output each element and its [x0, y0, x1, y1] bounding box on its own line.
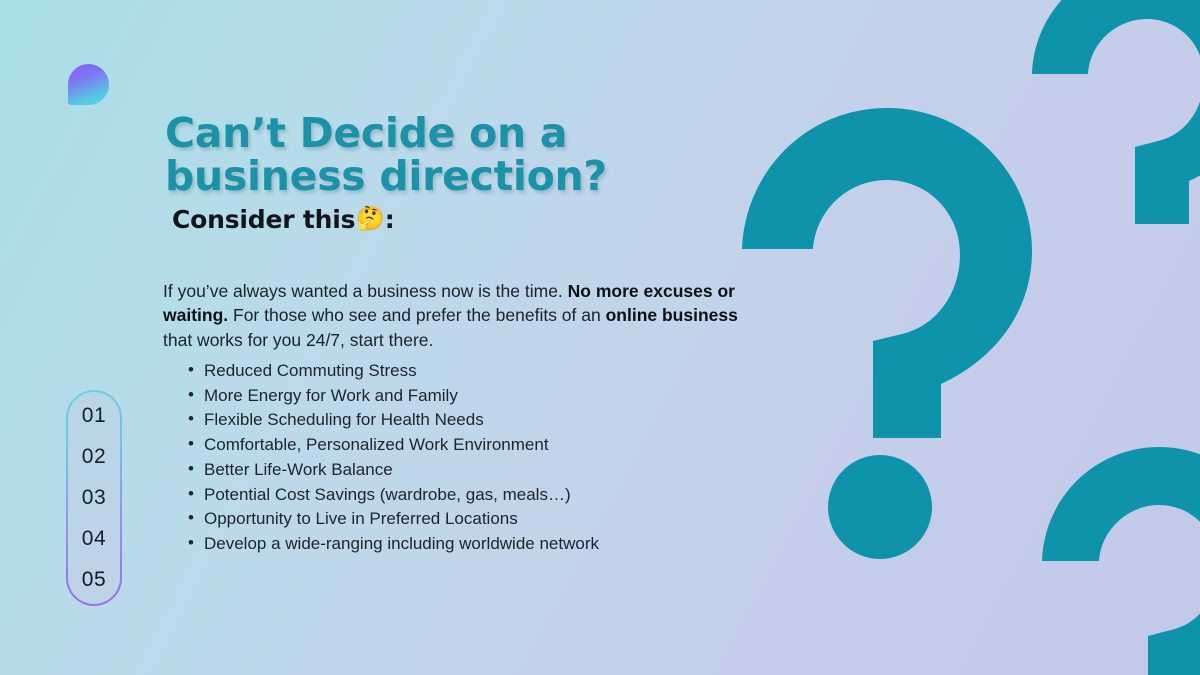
- paragraph-part-1: If you’ve always wanted a business now i…: [163, 281, 568, 301]
- question-mark-top-right-icon: [1032, 0, 1200, 224]
- list-item: Flexible Scheduling for Health Needs: [204, 408, 824, 433]
- slide-pagination[interactable]: 01 02 03 04 05: [66, 390, 122, 606]
- pagination-item-05-active[interactable]: 05: [72, 560, 116, 600]
- benefits-list: Reduced Commuting Stress More Energy for…: [178, 359, 824, 557]
- subtitle-colon: :: [385, 205, 395, 234]
- pagination-item-01[interactable]: 01: [72, 396, 116, 436]
- page-title-line-2: business direction?: [165, 152, 607, 200]
- list-item: Comfortable, Personalized Work Environme…: [204, 433, 824, 458]
- pagination-label: 05: [82, 568, 107, 592]
- list-item: More Energy for Work and Family: [204, 384, 824, 409]
- pagination-label: 03: [82, 486, 107, 510]
- list-item: Reduced Commuting Stress: [204, 359, 824, 384]
- page-title-line-1: Can’t Decide on a: [165, 109, 567, 157]
- pagination-label: 04: [82, 527, 107, 551]
- pagination-item-02[interactable]: 02: [72, 437, 116, 477]
- question-mark-bottom-right-icon: [1042, 447, 1200, 675]
- subtitle-text: Consider this: [172, 205, 355, 234]
- pagination-item-04[interactable]: 04: [72, 519, 116, 559]
- paragraph-part-3: that works for you 24/7, start there.: [163, 330, 433, 350]
- list-item: Better Life-Work Balance: [204, 458, 824, 483]
- paragraph-bold-2: online business: [606, 305, 738, 325]
- page-title: Can’t Decide on a business direction?: [165, 112, 785, 197]
- subtitle: Consider this 🤔 :: [172, 205, 395, 234]
- droplet-logo-icon: [68, 64, 109, 105]
- thinking-face-icon: 🤔: [356, 208, 384, 231]
- paragraph-part-2: For those who see and prefer the benefit…: [228, 305, 605, 325]
- pagination-item-03[interactable]: 03: [72, 478, 116, 518]
- body-paragraph: If you’ve always wanted a business now i…: [163, 279, 771, 354]
- pagination-label: 02: [82, 445, 107, 469]
- list-item: Develop a wide-ranging including worldwi…: [204, 532, 824, 557]
- list-item: Potential Cost Savings (wardrobe, gas, m…: [204, 483, 824, 508]
- pagination-label: 01: [82, 404, 107, 428]
- slide-canvas: Can’t Decide on a business direction? Co…: [0, 0, 1200, 675]
- slide-pagination-inner: 01 02 03 04 05: [68, 392, 120, 604]
- list-item: Opportunity to Live in Preferred Locatio…: [204, 507, 824, 532]
- question-mark-dot-icon: [828, 455, 932, 559]
